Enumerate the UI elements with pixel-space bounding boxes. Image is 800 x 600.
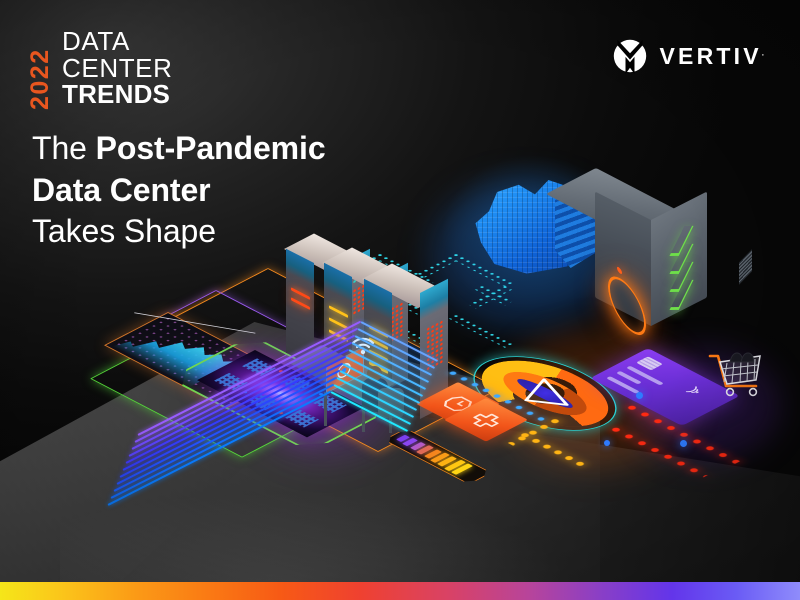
vertiv-brand-logo[interactable]: VERTIV.: [612, 38, 764, 74]
logo-line-trends: TRENDS: [62, 81, 173, 108]
logo-wordmark: DATA CENTER TRENDS: [62, 28, 173, 108]
headline-line-2: Data Center: [32, 170, 326, 212]
report-logo: 2022 DATA CENTER TRENDS: [28, 28, 173, 110]
headline-line-3: Takes Shape: [32, 211, 326, 253]
color-gradient-bar: [0, 582, 800, 600]
logo-year: 2022: [28, 28, 53, 110]
vertiv-trademark: .: [762, 48, 764, 57]
headline-light-2: Takes Shape: [32, 213, 216, 249]
vertiv-name: VERTIV: [659, 43, 761, 69]
headline-bold-1: Post-Pandemic: [96, 130, 326, 166]
headline-bold-2: Data Center: [32, 172, 211, 208]
headline-line-1: The Post-Pandemic: [32, 128, 326, 170]
cover-page: 2022 DATA CENTER TRENDS VERTIV. The Post…: [0, 0, 800, 600]
headline-light-1: The: [32, 130, 96, 166]
logo-line-data: DATA: [62, 28, 173, 55]
logo-line-center: CENTER: [62, 55, 173, 82]
page-title: The Post-Pandemic Data Center Takes Shap…: [32, 128, 326, 253]
vertiv-v-mark-icon: [612, 38, 648, 74]
vertiv-wordmark: VERTIV.: [659, 43, 764, 70]
